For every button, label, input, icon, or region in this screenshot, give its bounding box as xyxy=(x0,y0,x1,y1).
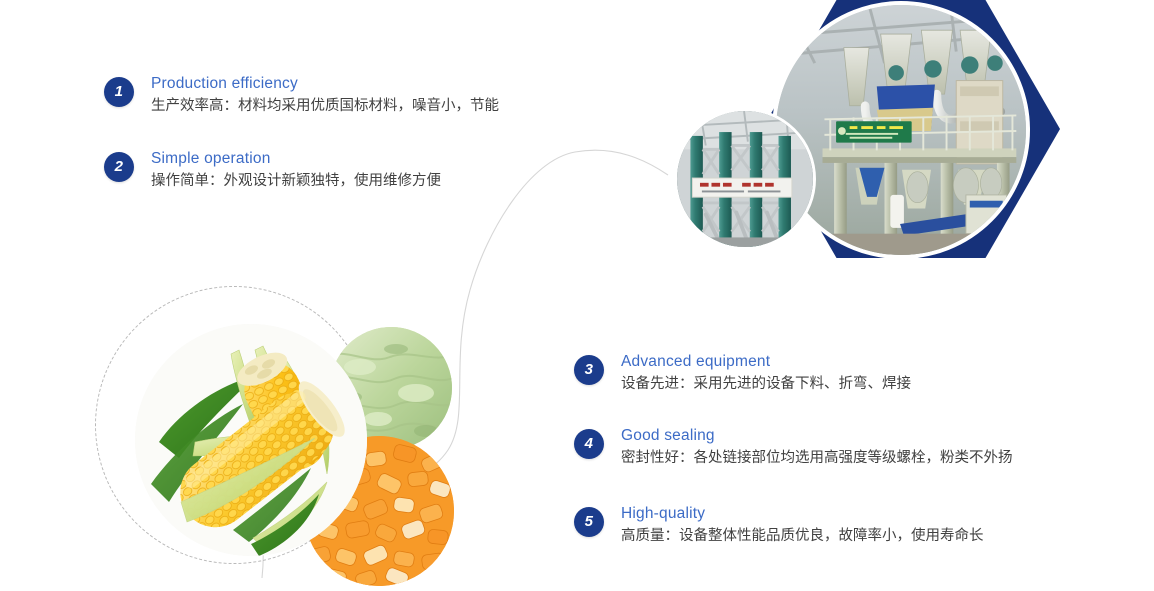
corn-cob-photo xyxy=(135,324,367,556)
feature-badge-5: 5 xyxy=(574,507,604,537)
feature-badge-3: 3 xyxy=(574,355,604,385)
feature-desc-3: 设备先进：采用先进的设备下料、折弯、焊接 xyxy=(621,373,911,395)
feature-item-2[interactable]: 2 Simple operation 操作简单：外观设计新颖独特，使用维修方便 xyxy=(104,149,441,192)
feature-item-4[interactable]: 4 Good sealing 密封性好：各处链接部位均选用高强度等级螺栓，粉类不… xyxy=(574,426,1013,469)
feature-title-4: Good sealing xyxy=(621,426,1013,446)
feature-item-5[interactable]: 5 High-quality 高质量：设备整体性能品质优良，故障率小，使用寿命长 xyxy=(574,504,984,547)
machinery-small-photo xyxy=(674,108,816,250)
factory-photo-cluster xyxy=(660,0,1080,273)
feature-desc-1: 生产效率高：材料均采用优质国标材料，噪音小，节能 xyxy=(151,95,499,117)
feature-title-5: High-quality xyxy=(621,504,984,524)
feature-badge-2: 2 xyxy=(104,152,134,182)
feature-text-4: Good sealing 密封性好：各处链接部位均选用高强度等级螺栓，粉类不外扬 xyxy=(621,426,1013,469)
feature-badge-4: 4 xyxy=(574,429,604,459)
feature-text-2: Simple operation 操作简单：外观设计新颖独特，使用维修方便 xyxy=(151,149,441,192)
factory-main-photo xyxy=(772,1,1030,259)
feature-text-1: Production efficiency 生产效率高：材料均采用优质国标材料，… xyxy=(151,74,499,117)
feature-text-3: Advanced equipment 设备先进：采用先进的设备下料、折弯、焊接 xyxy=(621,352,911,395)
feature-desc-2: 操作简单：外观设计新颖独特，使用维修方便 xyxy=(151,170,441,192)
feature-text-5: High-quality 高质量：设备整体性能品质优良，故障率小，使用寿命长 xyxy=(621,504,984,547)
feature-title-3: Advanced equipment xyxy=(621,352,911,372)
corn-photo-cluster xyxy=(92,284,482,591)
feature-badge-1: 1 xyxy=(104,77,134,107)
feature-desc-4: 密封性好：各处链接部位均选用高强度等级螺栓，粉类不外扬 xyxy=(621,447,1013,469)
advantages-infographic: 1 Production efficiency 生产效率高：材料均采用优质国标材… xyxy=(0,0,1154,591)
feature-desc-5: 高质量：设备整体性能品质优良，故障率小，使用寿命长 xyxy=(621,525,984,547)
feature-item-1[interactable]: 1 Production efficiency 生产效率高：材料均采用优质国标材… xyxy=(104,74,499,117)
feature-item-3[interactable]: 3 Advanced equipment 设备先进：采用先进的设备下料、折弯、焊… xyxy=(574,352,911,395)
feature-title-2: Simple operation xyxy=(151,149,441,169)
feature-title-1: Production efficiency xyxy=(151,74,499,94)
